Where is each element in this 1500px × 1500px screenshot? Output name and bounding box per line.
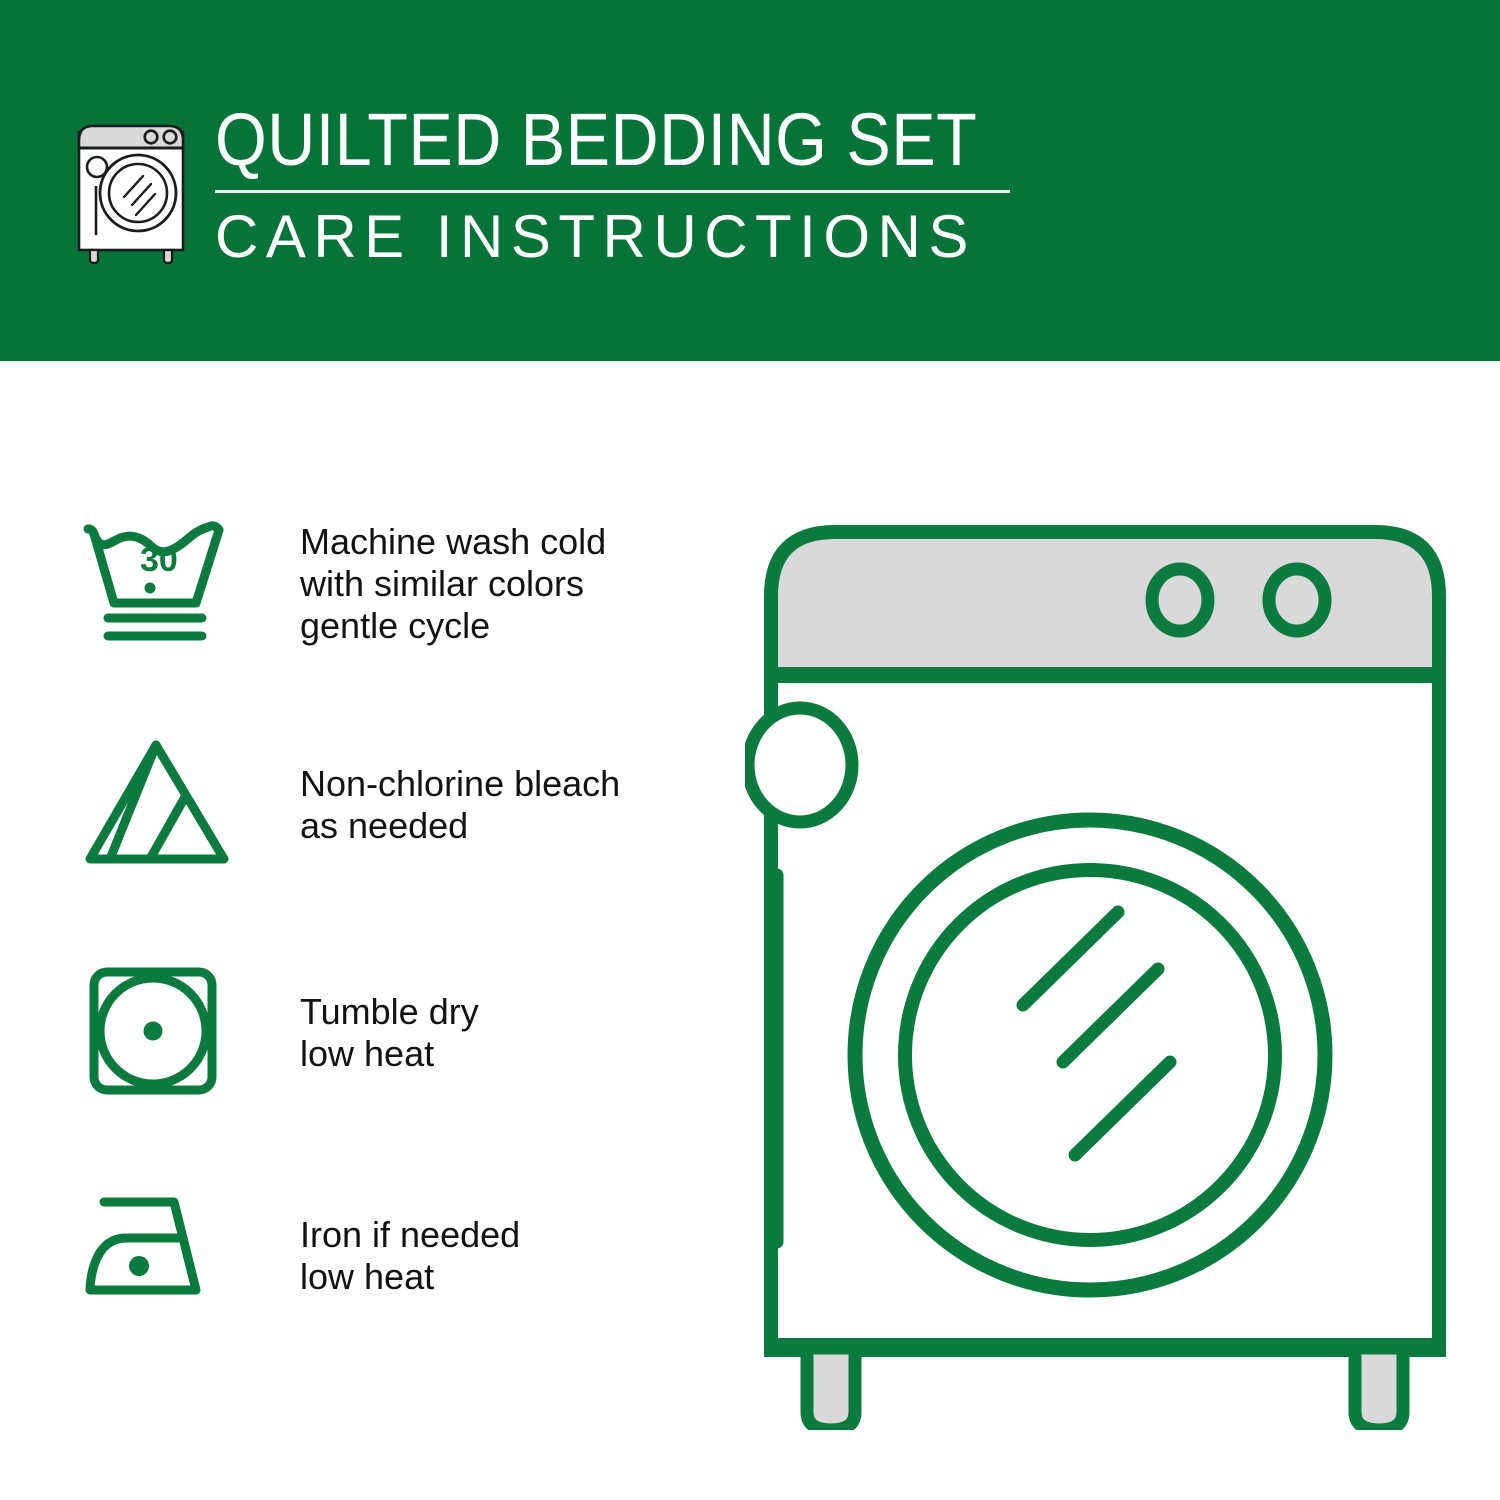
machine-foot-left bbox=[807, 1348, 855, 1430]
front-load-washing-machine-illustration bbox=[745, 500, 1465, 1430]
care-text-tumble-dry: Tumble dry low heat bbox=[300, 991, 479, 1075]
iron-low-heat-icon bbox=[78, 1186, 238, 1311]
care-instruction-list: 30 Machine wash cold with similar colors… bbox=[0, 361, 740, 1500]
tumble-dry-low-heat-icon bbox=[78, 961, 238, 1106]
header-text-block: QUILTED BEDDING SET CARE INSTRUCTIONS bbox=[215, 100, 1025, 270]
header-banner: QUILTED BEDDING SET CARE INSTRUCTIONS bbox=[0, 0, 1500, 361]
detergent-dispenser bbox=[748, 708, 852, 822]
door-stripes bbox=[1023, 912, 1170, 1155]
wash-temperature-label: 30 bbox=[140, 541, 178, 579]
non-chlorine-bleach-triangle-icon bbox=[78, 731, 238, 876]
care-text-iron: Iron if needed low heat bbox=[300, 1214, 520, 1298]
care-instructions-infographic: QUILTED BEDDING SET CARE INSTRUCTIONS bbox=[0, 0, 1500, 1500]
header-divider bbox=[215, 190, 1010, 193]
control-knob-1 bbox=[1152, 569, 1208, 631]
control-panel-fill bbox=[771, 532, 1439, 670]
machine-foot-right bbox=[1355, 1348, 1403, 1430]
washing-machine-icon bbox=[66, 104, 196, 264]
page-title: QUILTED BEDDING SET bbox=[215, 100, 944, 180]
page-subtitle: CARE INSTRUCTIONS bbox=[215, 204, 1025, 270]
door-inner-ring bbox=[905, 870, 1275, 1240]
wash-tub-30-gentle-icon: 30 bbox=[78, 511, 238, 656]
care-text-bleach: Non-chlorine bleach as needed bbox=[300, 763, 620, 847]
door-outer-ring bbox=[855, 820, 1325, 1290]
control-knob-2 bbox=[1269, 569, 1325, 631]
care-text-machine-wash: Machine wash cold with similar colors ge… bbox=[300, 521, 606, 647]
